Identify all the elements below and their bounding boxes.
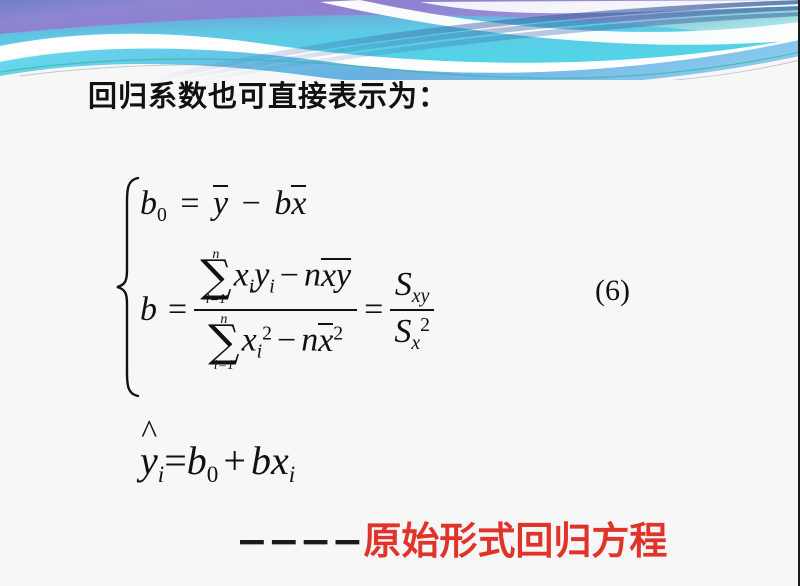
eq3-plus: + — [218, 438, 251, 483]
s-denominator: Sx2 — [390, 311, 434, 355]
numerator-xybar: xy — [321, 257, 351, 294]
eq2-equals-2: = — [357, 291, 390, 329]
denominator-summation: n ∑ i=1 — [208, 313, 239, 372]
equation-prediction: yi=b0+bxi — [140, 437, 295, 489]
s-numerator: Sxy — [391, 266, 434, 310]
s-den-sub: x — [411, 332, 420, 354]
denominator-x: x — [242, 322, 257, 359]
eq3-yhat: y — [140, 437, 158, 484]
equation-system: b0 = y − bx b = n ∑ i=1 xiyi−nxy — [112, 176, 592, 398]
numerator-n: n — [304, 257, 321, 294]
numerator-sigma-icon: ∑ — [200, 257, 231, 297]
eq1-lhs-sub: 0 — [157, 204, 167, 226]
equation-b: b = n ∑ i=1 xiyi−nxy n ∑ i=1 xi2−nx2 — [140, 248, 434, 373]
eq3-equals: = — [164, 438, 187, 483]
numerator-x: x — [234, 257, 249, 294]
eq3-b0-sub: 0 — [207, 462, 219, 488]
denominator-x-sup: 2 — [262, 323, 272, 345]
eq2-equals: = — [161, 291, 194, 329]
denominator-xbar: x — [318, 322, 333, 359]
denominator-n: n — [301, 322, 318, 359]
eq1-lhs: b — [140, 185, 157, 222]
numerator-summation: n ∑ i=1 — [200, 248, 231, 307]
equation-number: (6) — [595, 274, 630, 308]
conclusion-line: −−−−原始形式回归方程 — [236, 510, 667, 565]
conclusion-dashes: −−−− — [236, 519, 363, 563]
page-title: 回归系数也可直接表示为： — [88, 73, 448, 115]
eq1-xbar: x — [291, 184, 306, 223]
eq3-x-sub: i — [289, 462, 295, 488]
numerator-sum-lower: i=1 — [206, 293, 226, 307]
header-decoration-band — [0, 0, 800, 80]
s-num-sub: xy — [412, 285, 430, 307]
header-ribbon-svg — [0, 0, 800, 80]
eq2-s-fraction: Sxy Sx2 — [390, 266, 434, 355]
eq2-numerator: n ∑ i=1 xiyi−nxy — [194, 248, 357, 309]
eq1-b: b — [274, 185, 291, 222]
slide: 回归系数也可直接表示为： b0 = y − bx b = n ∑ — [0, 0, 800, 586]
s-den-symbol: S — [394, 313, 411, 350]
s-num-symbol: S — [395, 266, 412, 303]
equation-b0: b0 = y − bx — [140, 184, 306, 227]
eq3-b: b — [251, 438, 271, 483]
eq2-denominator: n ∑ i=1 xi2−nx2 — [202, 311, 349, 372]
eq3-x: x — [271, 438, 289, 483]
eq3-b0: b — [187, 438, 207, 483]
denominator-bar-sup: 2 — [333, 323, 343, 345]
eq2-fraction: n ∑ i=1 xiyi−nxy n ∑ i=1 xi2−nx2 — [194, 248, 357, 373]
eq1-minus: − — [237, 185, 266, 222]
eq1-ybar: y — [213, 184, 228, 223]
denominator-sum-lower: i=1 — [214, 359, 234, 373]
numerator-y: y — [254, 257, 269, 294]
conclusion-text: 原始形式回归方程 — [363, 519, 667, 563]
eq1-equals: = — [175, 185, 204, 222]
denominator-minus: − — [272, 322, 301, 359]
numerator-y-sub: i — [269, 275, 274, 297]
denominator-sigma-icon: ∑ — [208, 322, 239, 362]
s-den-sup: 2 — [420, 315, 430, 337]
numerator-minus: − — [275, 257, 304, 294]
eq2-lhs: b — [140, 291, 161, 329]
